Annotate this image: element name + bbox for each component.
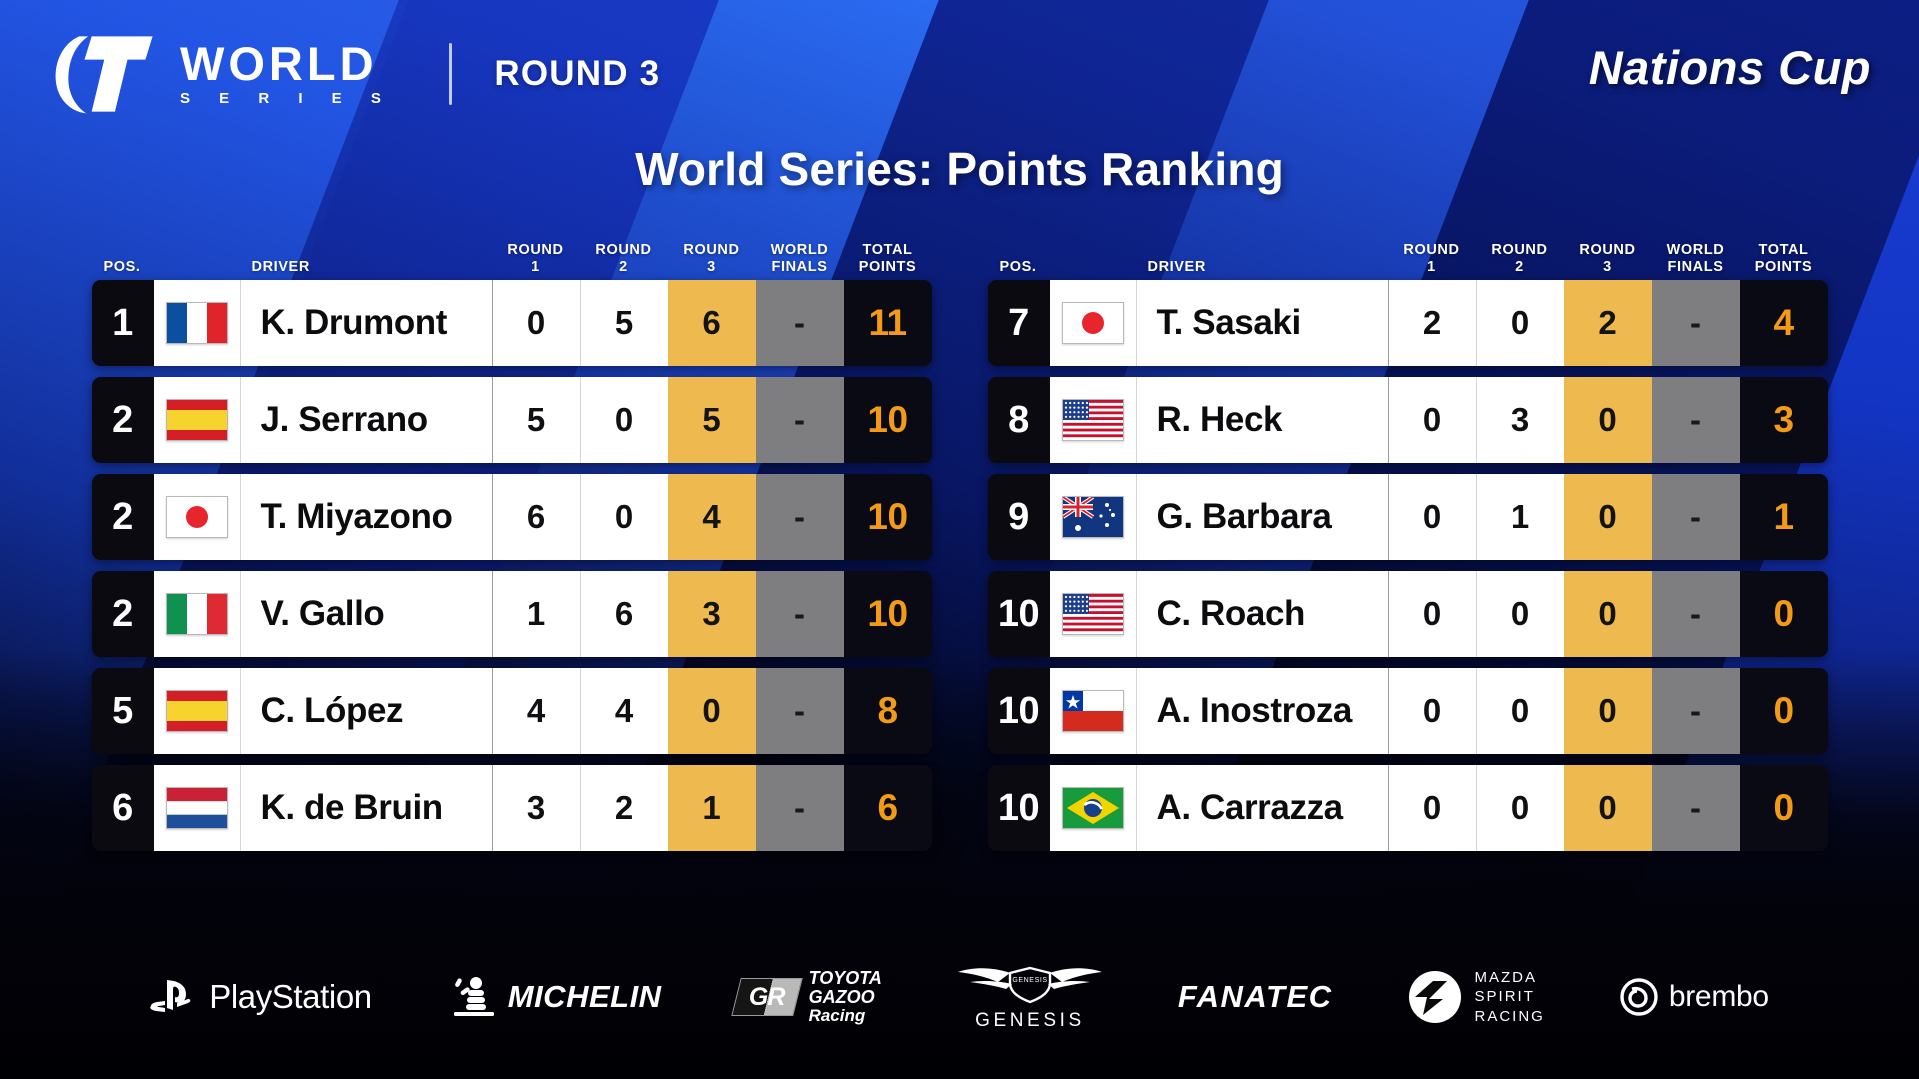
- row-round1-points: 0: [1388, 377, 1476, 463]
- tgr-line2: GAZOO: [809, 988, 882, 1007]
- column-header-round3: ROUND3: [668, 242, 756, 276]
- row-round2-points: 0: [1476, 668, 1564, 754]
- gt-world-series-logo: WORLD S E R I E S: [52, 31, 393, 117]
- row-position: 7: [988, 280, 1050, 366]
- row-round2-points: 0: [1476, 571, 1564, 657]
- row-position: 10: [988, 571, 1050, 657]
- row-total-points: 1: [1740, 474, 1828, 560]
- mazda-spirit-racing-wordmark: MAZDA SPIRIT RACING: [1475, 968, 1545, 1027]
- round1-line1: ROUND: [507, 242, 563, 258]
- row-round3-points: 3: [668, 571, 756, 657]
- fanatec-label: FANATEC: [1178, 979, 1333, 1015]
- table-body-left: 1K. Drumont056-112J. Serrano505-102T. Mi…: [92, 280, 932, 851]
- row-position: 10: [988, 765, 1050, 851]
- sponsor-playstation: PlayStation: [150, 959, 372, 1035]
- flag-icon: [166, 302, 228, 344]
- row-flag-chile: [1050, 668, 1136, 754]
- round-label: ROUND 3: [494, 54, 660, 94]
- row-total-points: 10: [844, 377, 932, 463]
- row-driver: J. Serrano: [240, 377, 492, 463]
- row-round1-points: 6: [492, 474, 580, 560]
- row-total-points: 6: [844, 765, 932, 851]
- flag-icon: [1062, 690, 1124, 732]
- row-flag-japan: [1050, 280, 1136, 366]
- row-round1-points: 0: [1388, 571, 1476, 657]
- row-world-finals-points: -: [756, 474, 844, 560]
- row-flag-france: [154, 280, 240, 366]
- table-row[interactable]: 10A. Carrazza000-0: [988, 765, 1828, 851]
- row-flag-spain: [154, 377, 240, 463]
- row-world-finals-points: -: [1652, 377, 1740, 463]
- row-flag-united-states: [1050, 571, 1136, 657]
- driver-name: C. Roach: [1157, 594, 1306, 634]
- table-body-right: 7T. Sasaki202-48R. Heck030-39G. Barbara0…: [988, 280, 1828, 851]
- row-flag-japan: [154, 474, 240, 560]
- driver-name: K. de Bruin: [261, 788, 443, 828]
- row-flag-australia: [1050, 474, 1136, 560]
- column-header-round2: ROUND2: [580, 242, 668, 276]
- flag-icon: [166, 399, 228, 441]
- flag-icon: [166, 690, 228, 732]
- wf-line2: FINALS: [756, 259, 844, 276]
- row-driver: K. Drumont: [240, 280, 492, 366]
- tgr-line1: TOYOTA: [809, 969, 882, 988]
- row-total-points: 10: [844, 571, 932, 657]
- driver-name: T. Sasaki: [1157, 303, 1301, 343]
- row-driver: C. López: [240, 668, 492, 754]
- row-driver: T. Sasaki: [1136, 280, 1388, 366]
- row-round1-points: 0: [1388, 765, 1476, 851]
- scoreboard-screen: WORLD S E R I E S ROUND 3 Nations Cup Wo…: [0, 0, 1919, 1079]
- row-round3-points: 0: [1564, 765, 1652, 851]
- row-round3-points: 2: [1564, 280, 1652, 366]
- row-driver: C. Roach: [1136, 571, 1388, 657]
- column-header-total-points: TOTALPOINTS: [844, 242, 932, 276]
- row-round1-points: 0: [1388, 474, 1476, 560]
- row-round2-points: 6: [580, 571, 668, 657]
- sponsor-toyota-gazoo-racing: GR TOYOTA GAZOO Racing: [736, 959, 882, 1035]
- sponsor-mazda-spirit-racing: MAZDA SPIRIT RACING: [1407, 959, 1545, 1035]
- event-name-nations-cup: Nations Cup: [1589, 40, 1871, 95]
- row-total-points: 0: [1740, 571, 1828, 657]
- flag-icon: [166, 593, 228, 635]
- column-header-pos: POS.: [92, 259, 154, 276]
- row-total-points: 0: [1740, 765, 1828, 851]
- row-round1-points: 0: [492, 280, 580, 366]
- row-flag-italy: [154, 571, 240, 657]
- michelin-label: MICHELIN: [508, 979, 662, 1015]
- round3-line1: ROUND: [683, 242, 739, 258]
- row-total-points: 10: [844, 474, 932, 560]
- flag-icon: [1062, 496, 1124, 538]
- column-header-total-points: TOTALPOINTS: [1740, 242, 1828, 276]
- row-world-finals-points: -: [756, 377, 844, 463]
- page-title: World Series: Points Ranking: [0, 142, 1919, 196]
- row-world-finals-points: -: [1652, 474, 1740, 560]
- genesis-label: GENESIS: [975, 1010, 1085, 1032]
- header-divider: [449, 43, 452, 105]
- row-total-points: 11: [844, 280, 932, 366]
- wf-line1: WORLD: [771, 242, 829, 258]
- gran-turismo-gt-icon: [52, 31, 160, 117]
- flag-icon: [1062, 787, 1124, 829]
- mazda-spirit-racing-icon: [1407, 969, 1463, 1025]
- flag-icon: [1062, 302, 1124, 344]
- sponsor-brembo: brembo: [1619, 959, 1769, 1035]
- row-total-points: 0: [1740, 668, 1828, 754]
- driver-name: R. Heck: [1157, 400, 1283, 440]
- row-round2-points: 2: [580, 765, 668, 851]
- row-total-points: 3: [1740, 377, 1828, 463]
- row-position: 1: [92, 280, 154, 366]
- sponsor-genesis: GENESIS GENESIS: [956, 959, 1104, 1035]
- row-round3-points: 6: [668, 280, 756, 366]
- total-line1: TOTAL: [863, 242, 913, 258]
- column-header-round3: ROUND3: [1564, 242, 1652, 276]
- row-world-finals-points: -: [1652, 280, 1740, 366]
- column-header-round1: ROUND1: [492, 242, 580, 276]
- logo-series-text: S E R I E S: [180, 91, 393, 106]
- table-row[interactable]: 2J. Serrano505-10: [92, 377, 932, 463]
- table-row[interactable]: 7T. Sasaki202-4: [988, 280, 1828, 366]
- flag-icon: [1062, 399, 1124, 441]
- gt-logo-wordmark: WORLD S E R I E S: [180, 42, 393, 106]
- playstation-label: PlayStation: [209, 978, 372, 1016]
- flag-icon: [1062, 593, 1124, 635]
- row-driver: A. Carrazza: [1136, 765, 1388, 851]
- row-driver: T. Miyazono: [240, 474, 492, 560]
- row-round3-points: 0: [1564, 571, 1652, 657]
- row-world-finals-points: -: [756, 280, 844, 366]
- row-position: 10: [988, 668, 1050, 754]
- column-header-world-finals: WORLDFINALS: [756, 242, 844, 276]
- sponsor-fanatec: FANATEC: [1178, 959, 1333, 1035]
- row-round3-points: 0: [1564, 668, 1652, 754]
- row-world-finals-points: -: [1652, 765, 1740, 851]
- row-round2-points: 5: [580, 280, 668, 366]
- table-row[interactable]: 2V. Gallo163-10: [92, 571, 932, 657]
- row-position: 2: [92, 377, 154, 463]
- total-line2: POINTS: [844, 259, 932, 276]
- row-world-finals-points: -: [756, 571, 844, 657]
- row-world-finals-points: -: [1652, 668, 1740, 754]
- wf-line2: FINALS: [1652, 259, 1740, 276]
- round2-line1: ROUND: [1491, 242, 1547, 258]
- row-flag-united-states: [1050, 377, 1136, 463]
- round1-line1: ROUND: [1403, 242, 1459, 258]
- toyota-gazoo-racing-wordmark: TOYOTA GAZOO Racing: [809, 969, 882, 1024]
- row-round2-points: 0: [580, 474, 668, 560]
- table-row[interactable]: 9G. Barbara010-1: [988, 474, 1828, 560]
- row-round1-points: 0: [1388, 668, 1476, 754]
- column-header-round1: ROUND1: [1388, 242, 1476, 276]
- row-round3-points: 1: [668, 765, 756, 851]
- round1-line2: 1: [1388, 259, 1476, 276]
- row-round3-points: 0: [1564, 377, 1652, 463]
- row-driver: V. Gallo: [240, 571, 492, 657]
- column-header-world-finals: WORLDFINALS: [1652, 242, 1740, 276]
- row-driver: A. Inostroza: [1136, 668, 1388, 754]
- gr-mark-text: GR: [749, 983, 785, 1012]
- svg-text:GENESIS: GENESIS: [1012, 977, 1047, 984]
- column-header-round2: ROUND2: [1476, 242, 1564, 276]
- driver-name: J. Serrano: [261, 400, 428, 440]
- standings-table-right: POS. DRIVER ROUND1 ROUND2 ROUND3 WORLDFI…: [988, 218, 1828, 862]
- standings-tables: POS. DRIVER ROUND1 ROUND2 ROUND3 WORLDFI…: [0, 218, 1919, 862]
- row-position: 2: [92, 474, 154, 560]
- row-total-points: 4: [1740, 280, 1828, 366]
- table-row[interactable]: 2T. Miyazono604-10: [92, 474, 932, 560]
- driver-name: K. Drumont: [261, 303, 448, 343]
- column-header-driver: DRIVER: [240, 259, 492, 276]
- msr-line1: MAZDA: [1475, 968, 1545, 988]
- table-row[interactable]: 8R. Heck030-3: [988, 377, 1828, 463]
- row-round2-points: 0: [1476, 280, 1564, 366]
- driver-name: A. Inostroza: [1157, 691, 1353, 731]
- driver-name: C. López: [261, 691, 404, 731]
- driver-name: V. Gallo: [261, 594, 385, 634]
- row-round3-points: 4: [668, 474, 756, 560]
- row-position: 5: [92, 668, 154, 754]
- logo-world-text: WORLD: [180, 42, 393, 87]
- msr-line3: RACING: [1475, 1007, 1545, 1027]
- round2-line2: 2: [580, 259, 668, 276]
- tgr-line3: Racing: [809, 1007, 882, 1025]
- row-round2-points: 4: [580, 668, 668, 754]
- row-driver: K. de Bruin: [240, 765, 492, 851]
- row-flag-netherlands: [154, 765, 240, 851]
- row-total-points: 8: [844, 668, 932, 754]
- header-bar: WORLD S E R I E S ROUND 3 Nations Cup: [0, 0, 1919, 148]
- wf-line1: WORLD: [1667, 242, 1725, 258]
- row-round1-points: 2: [1388, 280, 1476, 366]
- round2-line1: ROUND: [595, 242, 651, 258]
- row-round3-points: 5: [668, 377, 756, 463]
- row-world-finals-points: -: [756, 765, 844, 851]
- total-line2: POINTS: [1740, 259, 1828, 276]
- row-round1-points: 3: [492, 765, 580, 851]
- row-round3-points: 0: [668, 668, 756, 754]
- row-round2-points: 1: [1476, 474, 1564, 560]
- table-row[interactable]: 10A. Inostroza000-0: [988, 668, 1828, 754]
- row-round2-points: 3: [1476, 377, 1564, 463]
- genesis-wings-icon: GENESIS: [956, 963, 1104, 1005]
- michelin-man-icon: [446, 970, 498, 1024]
- flag-icon: [166, 496, 228, 538]
- round3-line2: 3: [1564, 259, 1652, 276]
- row-round3-points: 0: [1564, 474, 1652, 560]
- sponsor-bar: PlayStation MICHELIN GR TOYOTA GAZ: [0, 959, 1919, 1035]
- standings-table-left: POS. DRIVER ROUND1 ROUND2 ROUND3 WORLDFI…: [92, 218, 932, 862]
- row-position: 9: [988, 474, 1050, 560]
- total-line1: TOTAL: [1759, 242, 1809, 258]
- round3-line1: ROUND: [1579, 242, 1635, 258]
- row-round1-points: 5: [492, 377, 580, 463]
- msr-line2: SPIRIT: [1475, 987, 1545, 1007]
- row-round1-points: 4: [492, 668, 580, 754]
- row-round1-points: 1: [492, 571, 580, 657]
- row-round2-points: 0: [1476, 765, 1564, 851]
- brembo-disc-icon: [1619, 977, 1659, 1017]
- sponsor-michelin: MICHELIN: [446, 959, 662, 1035]
- brembo-label: brembo: [1669, 980, 1769, 1014]
- table-header-row: POS. DRIVER ROUND1 ROUND2 ROUND3 WORLDFI…: [988, 218, 1828, 280]
- row-world-finals-points: -: [756, 668, 844, 754]
- column-header-driver: DRIVER: [1136, 259, 1388, 276]
- table-row[interactable]: 6K. de Bruin321-6: [92, 765, 932, 851]
- driver-name: T. Miyazono: [261, 497, 453, 537]
- driver-name: G. Barbara: [1157, 497, 1332, 537]
- table-row[interactable]: 5C. López440-8: [92, 668, 932, 754]
- flag-icon: [166, 787, 228, 829]
- row-round2-points: 0: [580, 377, 668, 463]
- table-row[interactable]: 10C. Roach000-0: [988, 571, 1828, 657]
- row-world-finals-points: -: [1652, 571, 1740, 657]
- column-header-pos: POS.: [988, 259, 1050, 276]
- table-header-row: POS. DRIVER ROUND1 ROUND2 ROUND3 WORLDFI…: [92, 218, 932, 280]
- row-position: 2: [92, 571, 154, 657]
- playstation-logo-icon: [150, 980, 196, 1014]
- row-position: 6: [92, 765, 154, 851]
- row-driver: R. Heck: [1136, 377, 1388, 463]
- round2-line2: 2: [1476, 259, 1564, 276]
- row-position: 8: [988, 377, 1050, 463]
- row-driver: G. Barbara: [1136, 474, 1388, 560]
- row-flag-brazil: [1050, 765, 1136, 851]
- round1-line2: 1: [492, 259, 580, 276]
- row-flag-spain: [154, 668, 240, 754]
- round3-line2: 3: [668, 259, 756, 276]
- driver-name: A. Carrazza: [1157, 788, 1343, 828]
- table-row[interactable]: 1K. Drumont056-11: [92, 280, 932, 366]
- gr-mark-icon: GR: [731, 978, 802, 1016]
